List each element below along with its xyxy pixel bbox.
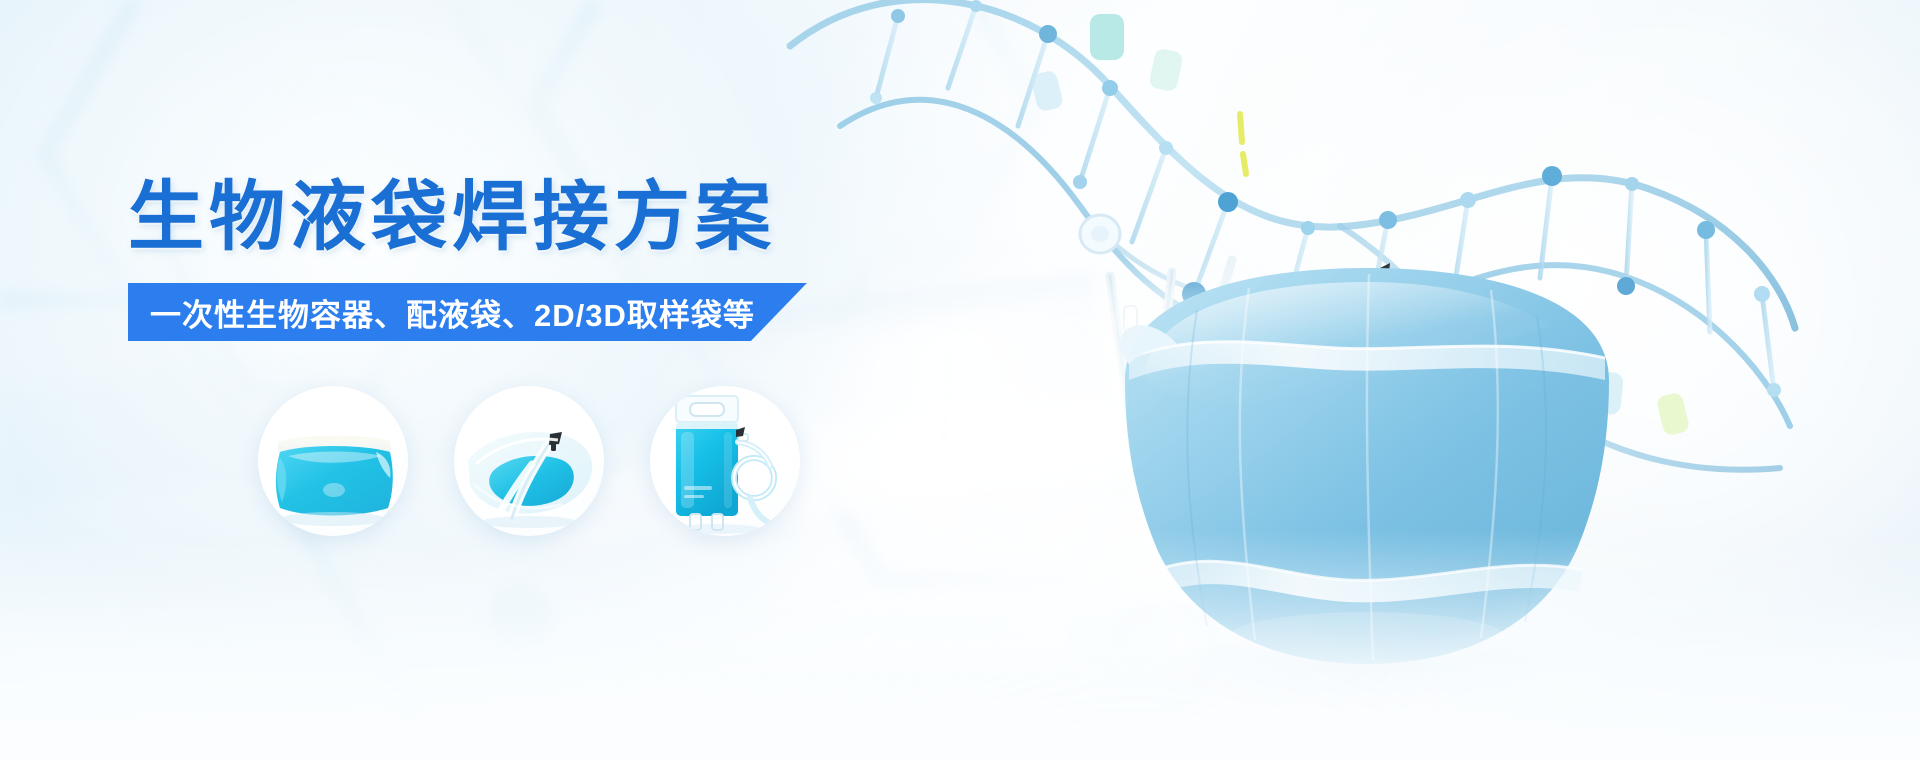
headline-block: 生物液袋焊接方案 <box>128 178 776 259</box>
bottom-fade <box>0 530 1920 760</box>
page-title: 生物液袋焊接方案 <box>128 178 776 259</box>
light-glow-left <box>0 0 860 690</box>
promo-banner: 生物液袋焊接方案 一次性生物容器、配液袋、2D/3D取样袋等 2D液袋 <box>0 0 1920 760</box>
thumbnail-solution-bag[interactable]: 配液袋 <box>650 386 800 536</box>
hexagon-pattern-background <box>0 0 1920 760</box>
subtitle-text: 一次性生物容器、配液袋、2D/3D取样袋等 <box>150 290 755 335</box>
bioreactor-bag-artwork <box>1085 240 1645 710</box>
dna-helix-artwork <box>780 0 1800 536</box>
product-thumbnail-row: 2D液袋 <box>258 386 800 536</box>
subtitle-ribbon: 一次性生物容器、配液袋、2D/3D取样袋等 <box>128 283 807 341</box>
light-glow-right <box>1300 0 1920 680</box>
thumbnail-2d-bag[interactable]: 2D液袋 <box>258 386 408 536</box>
thumbnail-sampling-bag[interactable]: 取样袋 <box>454 386 604 536</box>
